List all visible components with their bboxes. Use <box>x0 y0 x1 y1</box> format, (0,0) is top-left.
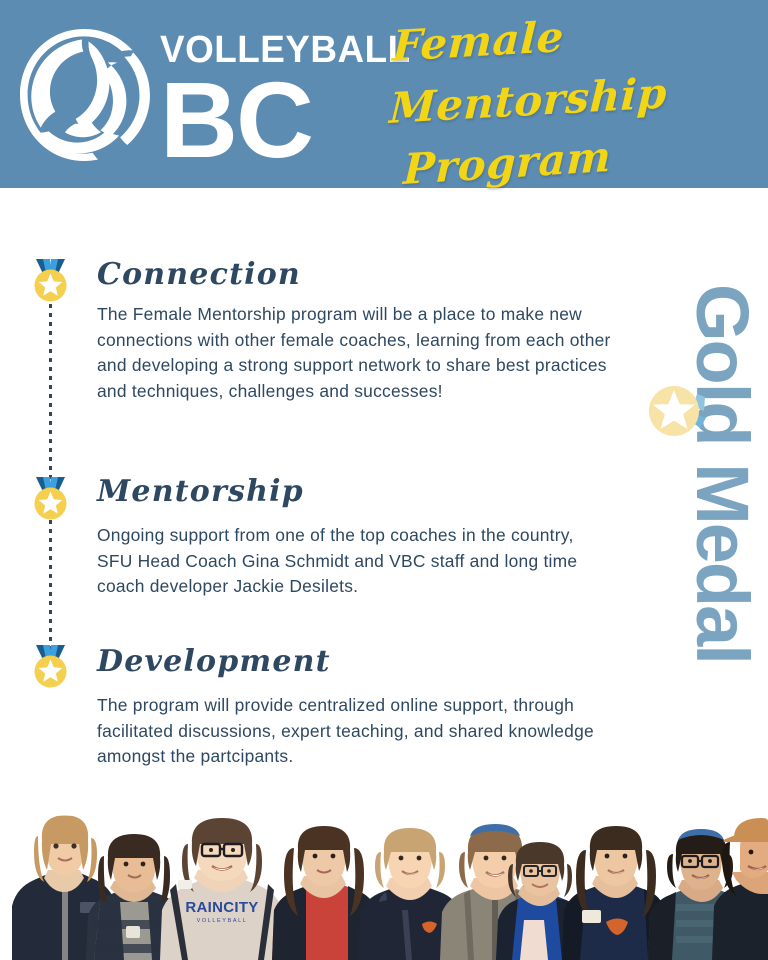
section-title: Development <box>97 645 627 679</box>
section-mentorship: Mentorship Ongoing support from one of t… <box>97 475 597 600</box>
page-title: Female Mentorship Program <box>388 16 760 176</box>
group-photo-strip: RAINCITY VOLLEYBALL <box>0 806 768 960</box>
gold-medal-star-icon <box>648 382 706 440</box>
header-banner: VOLLEYBALL BC Female Mentorship Program <box>0 0 768 188</box>
section-body: The Female Mentorship program will be a … <box>97 302 617 404</box>
section-development: Development The program will provide cen… <box>97 645 627 770</box>
logo-volleyball-text: VOLLEYBALL <box>160 30 354 70</box>
medal-star-icon <box>30 476 71 522</box>
poster-canvas: VOLLEYBALL BC Female Mentorship Program <box>0 0 768 960</box>
logo-bc-text: BC <box>160 72 360 168</box>
section-body: Ongoing support from one of the top coac… <box>97 523 597 600</box>
volleyball-icon <box>18 25 154 165</box>
timeline-rail <box>30 258 72 690</box>
medal-star-icon <box>30 644 71 690</box>
logo-wordmark: VOLLEYBALL BC <box>160 30 360 162</box>
svg-text:RAINCITY: RAINCITY <box>185 899 258 916</box>
section-connection: Connection The Female Mentorship program… <box>97 258 617 404</box>
medal-star-icon <box>30 258 71 304</box>
gold-medal-squared-logo: Gold Medal SQUARED <box>618 288 768 740</box>
section-title: Connection <box>97 258 617 292</box>
section-title: Mentorship <box>97 475 597 509</box>
svg-text:VOLLEYBALL: VOLLEYBALL <box>197 918 248 924</box>
gold-medal-text: Gold Medal <box>684 284 760 704</box>
volleyball-bc-logo: VOLLEYBALL BC <box>18 22 358 167</box>
section-body: The program will provide centralized onl… <box>97 693 627 770</box>
